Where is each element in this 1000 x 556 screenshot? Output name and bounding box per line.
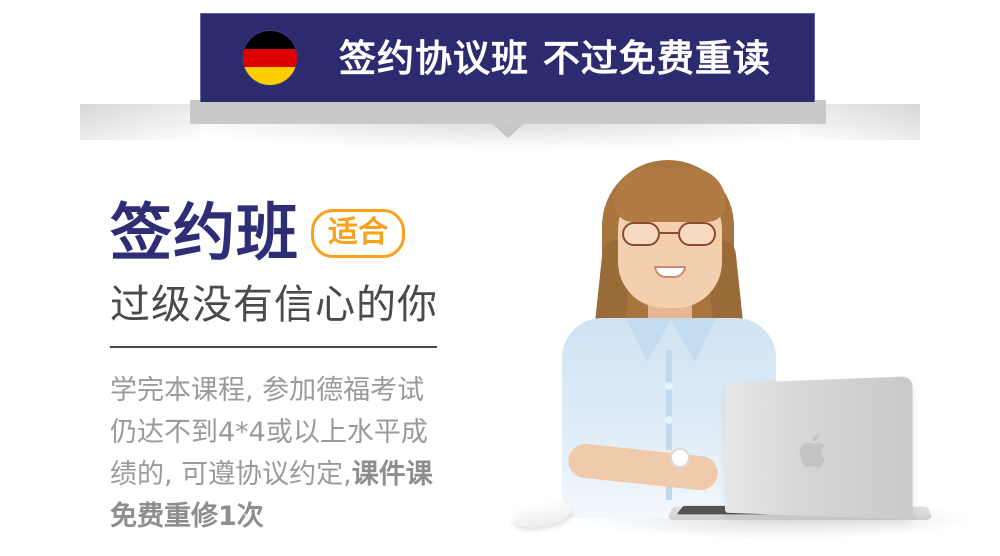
ribbon-notch-triangle [491,123,525,138]
body-line-3-normal: 绩的, 可遵协议约定, [110,459,352,490]
hair-front [614,168,726,222]
body-line-2: 仍达不到4*4或以上水平成 [110,412,462,454]
computer-mouse-icon [510,497,573,531]
laptop-lid [725,376,913,519]
wristwatch [670,448,690,468]
body-line-3: 绩的, 可遵协议约定,课件课 [110,454,462,496]
glasses-icon [620,222,720,246]
headline-row: 签约班 适合 [110,196,510,270]
body-line-1: 学完本课程, 参加德福考试 [110,370,462,412]
ribbon-base-bar [190,100,826,124]
glasses-bridge [660,232,678,234]
flag-band-red [243,49,297,67]
suitable-badge: 适合 [311,209,405,258]
banner-title: 签约协议班 不过免费重读 [339,40,771,77]
shirt-button [665,382,673,390]
body-line-3-strong: 课件课 [352,459,433,490]
body-line-4-strong: 免费重修1次 [110,496,462,538]
glasses-lens-right [678,222,716,246]
promo-body-copy: 学完本课程, 参加德福考试 仍达不到4*4或以上水平成 绩的, 可遵协议约定,课… [110,370,462,538]
promo-headline: 签约班 [110,202,299,264]
apple-logo-icon [798,431,831,471]
promo-banner-page: 签约协议班 不过免费重读 签约班 适合 过级没有信心的你 学完本课程, 参加德福… [0,0,1000,556]
shirt-button [665,416,673,424]
banner-bar: 签约协议班 不过免费重读 [200,13,815,102]
glasses-lens-left [622,222,660,246]
flag-band-gold [243,67,297,85]
promo-copy-block: 签约班 适合 过级没有信心的你 学完本课程, 参加德福考试 仍达不到4*4或以上… [110,196,510,538]
german-flag-icon [243,31,297,85]
promo-subheadline: 过级没有信心的你 [110,282,510,328]
flag-band-black [243,31,297,49]
header-ribbon: 签约协议班 不过免费重读 [0,0,1000,150]
student-photo [520,150,1000,556]
copy-divider [110,346,437,348]
